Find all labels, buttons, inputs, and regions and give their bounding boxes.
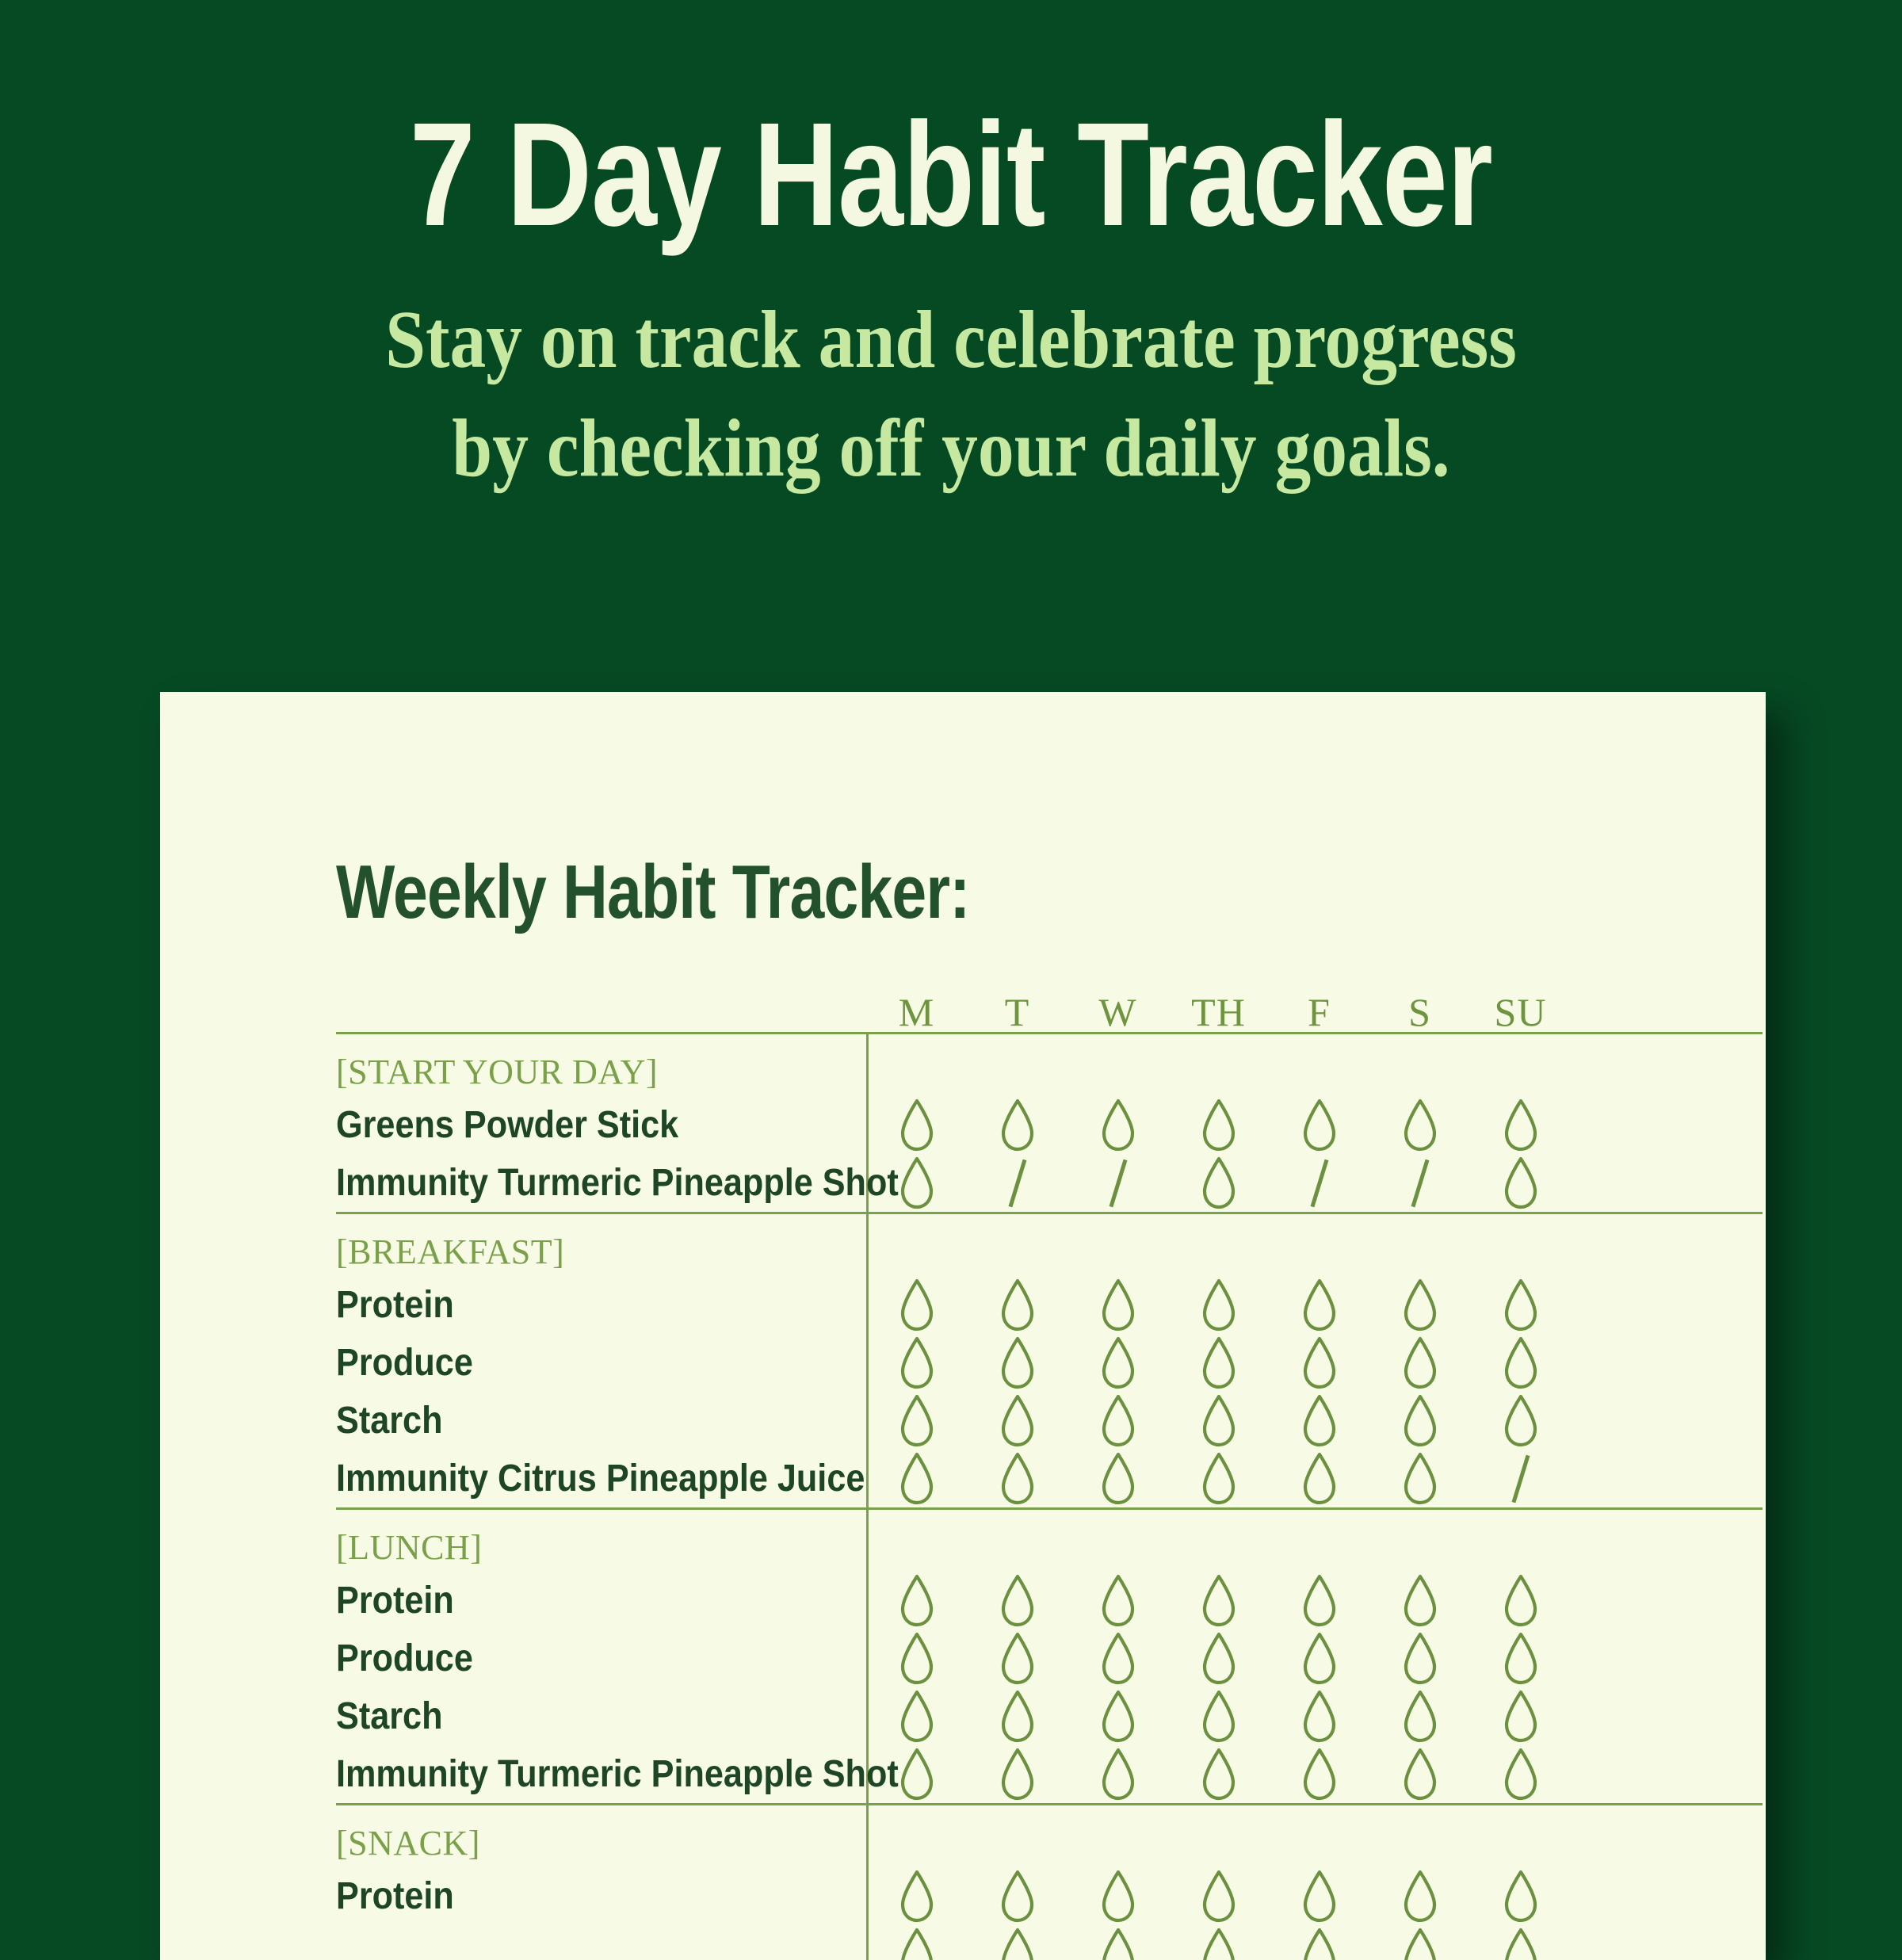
section-label: [SNACK] <box>336 1805 1763 1867</box>
day-header-f: F <box>1269 992 1369 1032</box>
habit-cell-w[interactable] <box>1067 1392 1168 1450</box>
habit-cell-t[interactable] <box>967 1867 1067 1925</box>
droplet-checkbox[interactable] <box>997 1870 1038 1924</box>
habit-cell-f[interactable] <box>1269 1687 1369 1745</box>
droplet-checkbox[interactable] <box>997 1632 1038 1686</box>
habit-cell-f[interactable] <box>1269 1392 1369 1450</box>
droplet-checkbox[interactable] <box>1299 1690 1340 1744</box>
habit-cells <box>866 1276 1763 1334</box>
habit-cell-f[interactable] <box>1269 1450 1369 1507</box>
habit-label: Produce <box>336 1344 813 1382</box>
habit-cell-m[interactable] <box>866 1450 967 1507</box>
habit-cell-w[interactable] <box>1067 1687 1168 1745</box>
habit-cell-t[interactable] <box>967 1687 1067 1745</box>
habit-cell-m[interactable] <box>866 1925 967 1960</box>
habit-cell-th[interactable] <box>1168 1867 1269 1925</box>
page-title: 7 Day Habit Tracker <box>190 101 1712 249</box>
habit-cell-m[interactable] <box>866 1334 967 1392</box>
habit-cell-f[interactable] <box>1269 1154 1369 1212</box>
habit-cell-t[interactable] <box>967 1572 1067 1630</box>
droplet-checkbox[interactable] <box>997 1336 1038 1390</box>
droplet-checkbox[interactable] <box>1198 1336 1239 1390</box>
habit-cell-th[interactable] <box>1168 1450 1269 1507</box>
habit-cell-w[interactable] <box>1067 1572 1168 1630</box>
droplet-checkbox[interactable] <box>896 1156 938 1210</box>
habit-cell-m[interactable] <box>866 1572 967 1630</box>
section-label: [BREAKFAST] <box>336 1214 1763 1276</box>
droplet-checkbox[interactable] <box>1098 1098 1139 1152</box>
droplet-checkbox[interactable] <box>1299 1336 1340 1390</box>
habit-cell-s[interactable] <box>1369 1154 1470 1212</box>
tracker-card-title: Weekly Habit Tracker: <box>336 854 1508 930</box>
habit-cell-w[interactable] <box>1067 1154 1168 1212</box>
table-header-row: MTWTHFSSU <box>336 975 1763 1032</box>
droplet-checkbox[interactable] <box>1299 1748 1340 1801</box>
subtitle-line-2: by checking off your daily goals. <box>254 394 1648 502</box>
droplet-checkbox[interactable] <box>1198 1690 1239 1744</box>
droplet-checkbox[interactable] <box>1098 1632 1139 1686</box>
droplet-checkbox[interactable] <box>1500 1156 1541 1210</box>
habit-cell-m[interactable] <box>866 1392 967 1450</box>
droplet-checkbox[interactable] <box>1400 1452 1441 1506</box>
habit-cell-f[interactable] <box>1269 1745 1369 1803</box>
droplet-checkbox[interactable] <box>997 1452 1038 1506</box>
droplet-checkbox[interactable] <box>997 1278 1038 1332</box>
habit-label: Immunity Turmeric Pineapple Shot <box>336 1756 813 1794</box>
droplet-checkbox[interactable] <box>1198 1156 1239 1210</box>
habit-cells <box>866 1925 1763 1960</box>
tracker-section: [SNACK]Protein <box>336 1803 1763 1960</box>
droplet-checkbox[interactable] <box>1500 1748 1541 1801</box>
droplet-checkbox[interactable] <box>896 1336 938 1390</box>
droplet-checkbox[interactable] <box>997 1690 1038 1744</box>
habit-cell-f[interactable] <box>1269 1334 1369 1392</box>
habit-cell-su[interactable] <box>1470 1925 1571 1960</box>
droplet-checkbox[interactable] <box>1299 1394 1340 1448</box>
droplet-checkbox[interactable] <box>896 1394 938 1448</box>
droplet-checkbox[interactable] <box>1400 1632 1441 1686</box>
habit-row <box>336 1925 1763 1960</box>
droplet-checkbox[interactable] <box>1400 1690 1441 1744</box>
droplet-checkbox[interactable] <box>1198 1098 1239 1152</box>
droplet-checkbox[interactable] <box>1299 1278 1340 1332</box>
droplet-checkbox[interactable] <box>997 1748 1038 1801</box>
droplet-checkbox[interactable] <box>1400 1748 1441 1801</box>
habit-cell-m[interactable] <box>866 1096 967 1154</box>
day-header-w: W <box>1067 992 1168 1032</box>
droplet-checkbox[interactable] <box>1500 1690 1541 1744</box>
droplet-checkbox[interactable] <box>997 1928 1038 1960</box>
droplet-checkbox[interactable] <box>1299 1928 1340 1960</box>
day-header-th: TH <box>1168 992 1269 1032</box>
droplet-checkbox[interactable] <box>896 1870 938 1924</box>
droplet-checkbox[interactable] <box>1098 1394 1139 1448</box>
habit-label: Protein <box>336 1878 813 1916</box>
habit-cell-f[interactable] <box>1269 1276 1369 1334</box>
habit-cell-th[interactable] <box>1168 1096 1269 1154</box>
habit-cell-f[interactable] <box>1269 1630 1369 1687</box>
droplet-checkbox[interactable] <box>1098 1452 1139 1506</box>
habit-cell-su[interactable] <box>1470 1154 1571 1212</box>
poster-header: 7 Day Habit Tracker Stay on track and ce… <box>0 0 1902 503</box>
droplet-checkbox[interactable] <box>1098 1278 1139 1332</box>
day-header-su: SU <box>1470 992 1571 1032</box>
habit-cell-s[interactable] <box>1369 1867 1470 1925</box>
habit-row: Produce <box>336 1630 1763 1687</box>
habit-cell-th[interactable] <box>1168 1687 1269 1745</box>
habit-row: Immunity Citrus Pineapple Juice <box>336 1450 1763 1507</box>
droplet-checkbox[interactable] <box>1299 1632 1340 1686</box>
droplet-checkbox[interactable] <box>1400 1336 1441 1390</box>
habit-cell-th[interactable] <box>1168 1154 1269 1212</box>
habit-cells <box>866 1392 1763 1450</box>
habit-cell-s[interactable] <box>1369 1572 1470 1630</box>
droplet-checkbox[interactable] <box>997 1394 1038 1448</box>
habit-cell-su[interactable] <box>1470 1334 1571 1392</box>
droplet-checkbox[interactable] <box>1198 1748 1239 1801</box>
droplet-checkbox[interactable] <box>1400 1098 1441 1152</box>
habit-cells <box>866 1096 1763 1154</box>
habit-cells <box>866 1334 1763 1392</box>
droplet-checkbox[interactable] <box>1400 1928 1441 1960</box>
droplet-checkbox[interactable] <box>896 1452 938 1506</box>
droplet-checkbox[interactable] <box>1500 1336 1541 1390</box>
droplet-checkbox[interactable] <box>1500 1098 1541 1152</box>
habit-cell-t[interactable] <box>967 1154 1067 1212</box>
tracker-section: [BREAKFAST]ProteinProduceStarchImmunity … <box>336 1212 1763 1507</box>
habit-row: Protein <box>336 1867 1763 1925</box>
droplet-checkbox[interactable] <box>1500 1928 1541 1960</box>
habit-cell-s[interactable] <box>1369 1450 1470 1507</box>
habit-cell-w[interactable] <box>1067 1276 1168 1334</box>
habit-row: Starch <box>336 1687 1763 1745</box>
droplet-checkbox[interactable] <box>1500 1278 1541 1332</box>
droplet-checkbox[interactable] <box>896 1928 938 1960</box>
droplet-checkbox[interactable] <box>1198 1278 1239 1332</box>
habit-cell-w[interactable] <box>1067 1096 1168 1154</box>
droplet-checkbox[interactable] <box>1500 1574 1541 1628</box>
habit-row: Starch <box>336 1392 1763 1450</box>
habit-cell-m[interactable] <box>866 1276 967 1334</box>
habit-cell-t[interactable] <box>967 1392 1067 1450</box>
tracker-sections: [START YOUR DAY]Greens Powder StickImmun… <box>336 1032 1763 1960</box>
droplet-checkbox[interactable] <box>1299 1452 1340 1506</box>
droplet-checkbox[interactable] <box>1098 1748 1139 1801</box>
habit-row: Immunity Turmeric Pineapple Shot <box>336 1154 1763 1212</box>
droplet-checkbox[interactable] <box>896 1574 938 1628</box>
droplet-checkbox[interactable] <box>1098 1870 1139 1924</box>
habit-label: Protein <box>336 1286 813 1324</box>
habit-cell-f[interactable] <box>1269 1096 1369 1154</box>
habit-cell-w[interactable] <box>1067 1334 1168 1392</box>
droplet-checkbox[interactable] <box>997 1574 1038 1628</box>
droplet-checkbox[interactable] <box>1299 1574 1340 1628</box>
habit-row: Protein <box>336 1572 1763 1630</box>
habit-cell-t[interactable] <box>967 1925 1067 1960</box>
slash-mark[interactable] <box>1308 1159 1331 1208</box>
section-label: [START YOUR DAY] <box>336 1034 1763 1096</box>
droplet-checkbox[interactable] <box>1098 1574 1139 1628</box>
habit-cell-s[interactable] <box>1369 1687 1470 1745</box>
habit-cell-m[interactable] <box>866 1867 967 1925</box>
habit-cell-w[interactable] <box>1067 1745 1168 1803</box>
habit-cell-s[interactable] <box>1369 1745 1470 1803</box>
day-header-m: M <box>866 992 967 1032</box>
habit-cell-su[interactable] <box>1470 1392 1571 1450</box>
habit-cell-s[interactable] <box>1369 1276 1470 1334</box>
habit-label: Greens Powder Stick <box>336 1106 813 1144</box>
droplet-checkbox[interactable] <box>1500 1394 1541 1448</box>
droplet-checkbox[interactable] <box>1400 1278 1441 1332</box>
habit-cell-su[interactable] <box>1470 1745 1571 1803</box>
habit-label: Produce <box>336 1640 813 1678</box>
droplet-checkbox[interactable] <box>896 1748 938 1801</box>
habit-cell-s[interactable] <box>1369 1630 1470 1687</box>
habit-cells <box>866 1154 1763 1212</box>
droplet-checkbox[interactable] <box>1299 1870 1340 1924</box>
habit-cell-w[interactable] <box>1067 1630 1168 1687</box>
habit-cell-t[interactable] <box>967 1096 1067 1154</box>
droplet-checkbox[interactable] <box>896 1278 938 1332</box>
droplet-checkbox[interactable] <box>1198 1632 1239 1686</box>
habit-cell-su[interactable] <box>1470 1630 1571 1687</box>
habit-row: Greens Powder Stick <box>336 1096 1763 1154</box>
habit-label: Protein <box>336 1582 813 1620</box>
habit-cell-t[interactable] <box>967 1745 1067 1803</box>
habit-cell-su[interactable] <box>1470 1867 1571 1925</box>
droplet-checkbox[interactable] <box>1400 1574 1441 1628</box>
habit-cell-th[interactable] <box>1168 1276 1269 1334</box>
droplet-checkbox[interactable] <box>1198 1574 1239 1628</box>
droplet-checkbox[interactable] <box>1098 1690 1139 1744</box>
tracker-card: Weekly Habit Tracker: MTWTHFSSU [START Y… <box>160 692 1766 1960</box>
habit-label: Immunity Citrus Pineapple Juice <box>336 1460 813 1498</box>
habit-cell-th[interactable] <box>1168 1745 1269 1803</box>
section-label: [LUNCH] <box>336 1510 1763 1572</box>
droplet-checkbox[interactable] <box>1299 1098 1340 1152</box>
droplet-checkbox[interactable] <box>1198 1452 1239 1506</box>
day-header-s: S <box>1369 992 1470 1032</box>
habit-cell-m[interactable] <box>866 1687 967 1745</box>
habit-label: Starch <box>336 1402 813 1440</box>
habit-cell-su[interactable] <box>1470 1276 1571 1334</box>
habit-tracker-table: MTWTHFSSU [START YOUR DAY]Greens Powder … <box>336 975 1763 1960</box>
habit-cell-th[interactable] <box>1168 1392 1269 1450</box>
droplet-checkbox[interactable] <box>896 1632 938 1686</box>
habit-cell-w[interactable] <box>1067 1450 1168 1507</box>
habit-cell-th[interactable] <box>1168 1572 1269 1630</box>
droplet-checkbox[interactable] <box>1198 1394 1239 1448</box>
habit-label: Immunity Turmeric Pineapple Shot <box>336 1164 813 1202</box>
droplet-checkbox[interactable] <box>1400 1870 1441 1924</box>
habit-cell-th[interactable] <box>1168 1630 1269 1687</box>
habit-row: Immunity Turmeric Pineapple Shot <box>336 1745 1763 1803</box>
habit-cell-t[interactable] <box>967 1630 1067 1687</box>
slash-mark[interactable] <box>1106 1159 1130 1208</box>
habit-cell-t[interactable] <box>967 1334 1067 1392</box>
droplet-checkbox[interactable] <box>896 1690 938 1744</box>
day-headers: MTWTHFSSU <box>866 992 1763 1032</box>
droplet-checkbox[interactable] <box>1198 1870 1239 1924</box>
day-header-t: T <box>967 992 1067 1032</box>
habit-cell-t[interactable] <box>967 1276 1067 1334</box>
droplet-checkbox[interactable] <box>1500 1870 1541 1924</box>
habit-cell-m[interactable] <box>866 1630 967 1687</box>
habit-cell-s[interactable] <box>1369 1096 1470 1154</box>
habit-label: Starch <box>336 1698 813 1736</box>
droplet-checkbox[interactable] <box>1198 1928 1239 1960</box>
habit-cell-f[interactable] <box>1269 1925 1369 1960</box>
habit-cells <box>866 1687 1763 1745</box>
habit-cell-su[interactable] <box>1470 1572 1571 1630</box>
habit-cell-th[interactable] <box>1168 1334 1269 1392</box>
habit-row: Protein <box>336 1276 1763 1334</box>
habit-cells <box>866 1745 1763 1803</box>
habit-row: Produce <box>336 1334 1763 1392</box>
habit-cell-w[interactable] <box>1067 1925 1168 1960</box>
habit-cell-su[interactable] <box>1470 1096 1571 1154</box>
habit-cell-th[interactable] <box>1168 1925 1269 1960</box>
habit-cell-w[interactable] <box>1067 1867 1168 1925</box>
habit-cell-s[interactable] <box>1369 1925 1470 1960</box>
droplet-checkbox[interactable] <box>997 1098 1038 1152</box>
slash-mark[interactable] <box>1006 1159 1029 1208</box>
habit-cell-s[interactable] <box>1369 1334 1470 1392</box>
habit-cell-s[interactable] <box>1369 1392 1470 1450</box>
slash-mark[interactable] <box>1408 1159 1432 1208</box>
page-subtitle: Stay on track and celebrate progress by … <box>254 285 1648 503</box>
habit-cell-f[interactable] <box>1269 1572 1369 1630</box>
droplet-checkbox[interactable] <box>1500 1632 1541 1686</box>
habit-cell-su[interactable] <box>1470 1450 1571 1507</box>
droplet-checkbox[interactable] <box>896 1098 938 1152</box>
tracker-section: [START YOUR DAY]Greens Powder StickImmun… <box>336 1032 1763 1212</box>
droplet-checkbox[interactable] <box>1098 1336 1139 1390</box>
habit-cells <box>866 1630 1763 1687</box>
habit-cell-t[interactable] <box>967 1450 1067 1507</box>
subtitle-line-1: Stay on track and celebrate progress <box>254 285 1648 394</box>
droplet-checkbox[interactable] <box>1098 1928 1139 1960</box>
slash-mark[interactable] <box>1509 1454 1533 1503</box>
habit-cells <box>866 1450 1763 1507</box>
tracker-section: [LUNCH]ProteinProduceStarchImmunity Turm… <box>336 1507 1763 1803</box>
habit-cell-f[interactable] <box>1269 1867 1369 1925</box>
habit-cells <box>866 1867 1763 1925</box>
droplet-checkbox[interactable] <box>1400 1394 1441 1448</box>
habit-cells <box>866 1572 1763 1630</box>
habit-cell-su[interactable] <box>1470 1687 1571 1745</box>
